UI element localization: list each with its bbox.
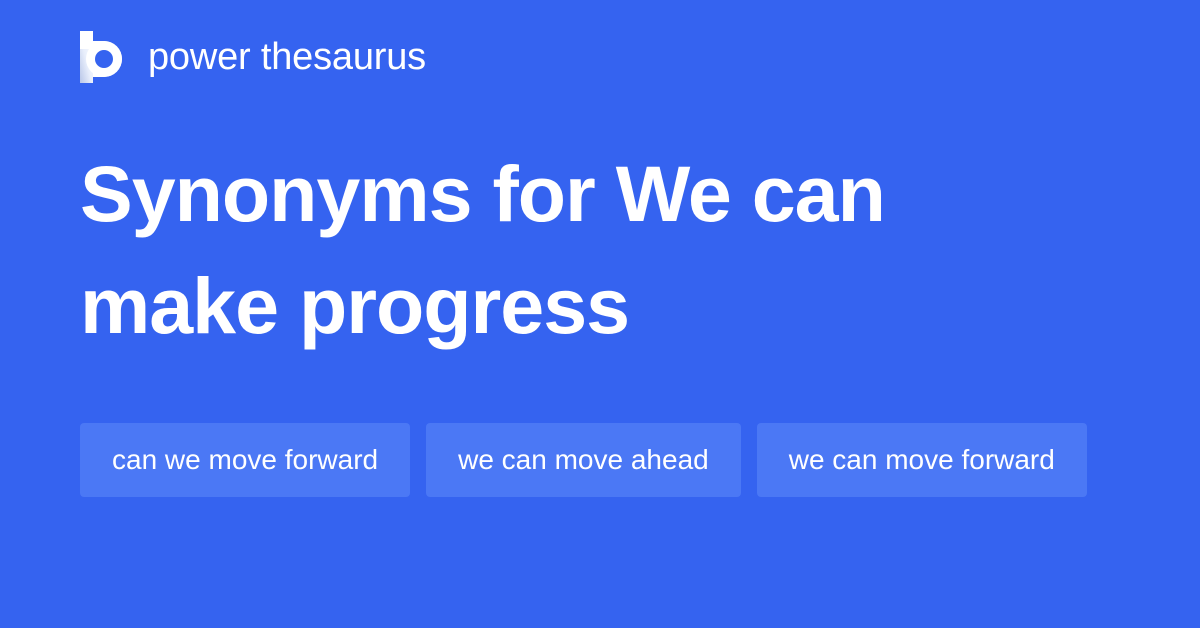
share-card: power thesaurus Synonyms for We can make… (0, 0, 1200, 628)
synonym-chip[interactable]: can we move forward (80, 423, 410, 497)
synonym-chip-list: can we move forward we can move ahead we… (80, 423, 1120, 497)
power-thesaurus-b-logo-icon (80, 31, 126, 83)
brand-header[interactable]: power thesaurus (80, 28, 426, 86)
brand-name: power thesaurus (148, 38, 426, 76)
synonym-chip[interactable]: we can move ahead (426, 423, 741, 497)
synonym-chip[interactable]: we can move forward (757, 423, 1087, 497)
page-title: Synonyms for We can make progress (80, 138, 1060, 362)
